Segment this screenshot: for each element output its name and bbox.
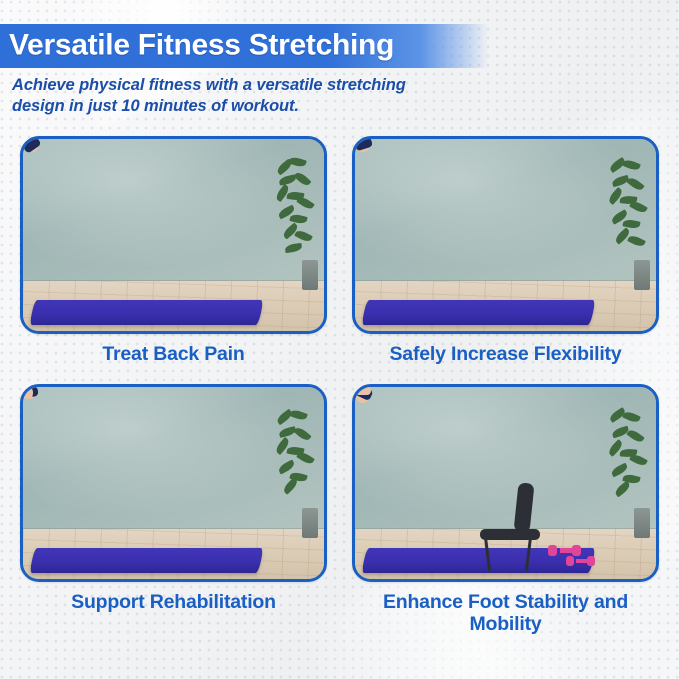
plant-pot xyxy=(302,508,318,538)
photo-frame xyxy=(352,136,659,334)
product-infographic: Versatile Fitness Stretching Achieve phy… xyxy=(0,0,679,679)
photo-scene-supine-bent-knee xyxy=(23,139,324,331)
header: Versatile Fitness Stretching Achieve phy… xyxy=(0,0,679,118)
photo-frame xyxy=(20,384,327,582)
feature-card-treat-back-pain: Treat Back Pain xyxy=(20,136,327,365)
photo-scene-supine-straight-leg xyxy=(355,139,656,331)
card-caption: Enhance Foot Stability and Mobility xyxy=(352,591,659,635)
yoga-mat xyxy=(29,300,263,325)
card-caption: Treat Back Pain xyxy=(20,343,327,365)
card-caption: Support Rehabilitation xyxy=(20,591,327,613)
feature-card-enhance-foot-stability: Enhance Foot Stability and Mobility xyxy=(352,384,659,635)
dumbbell-icon-second xyxy=(566,556,596,567)
photo-scene-prone-hamstring xyxy=(23,387,324,579)
yoga-mat xyxy=(361,300,595,325)
title-banner: Versatile Fitness Stretching xyxy=(0,24,679,68)
photo-scene-seated-chair xyxy=(355,387,656,579)
plant-pot xyxy=(302,260,318,290)
feature-card-safely-increase-flexibility: Safely Increase Flexibility xyxy=(352,136,659,365)
card-row-top: Treat Back Pain xyxy=(0,136,679,365)
feature-card-support-rehabilitation: Support Rehabilitation xyxy=(20,384,327,635)
plant-pot xyxy=(634,508,650,538)
chair xyxy=(475,483,553,571)
yoga-mat xyxy=(29,548,263,573)
plant-pot xyxy=(634,260,650,290)
photo-frame xyxy=(352,384,659,582)
feature-card-grid: Treat Back Pain xyxy=(0,136,679,635)
page-subtitle: Achieve physical fitness with a versatil… xyxy=(12,75,460,118)
card-caption: Safely Increase Flexibility xyxy=(352,343,659,365)
photo-frame xyxy=(20,136,327,334)
page-title: Versatile Fitness Stretching xyxy=(9,28,394,62)
card-row-bottom: Support Rehabilitation xyxy=(0,384,679,635)
